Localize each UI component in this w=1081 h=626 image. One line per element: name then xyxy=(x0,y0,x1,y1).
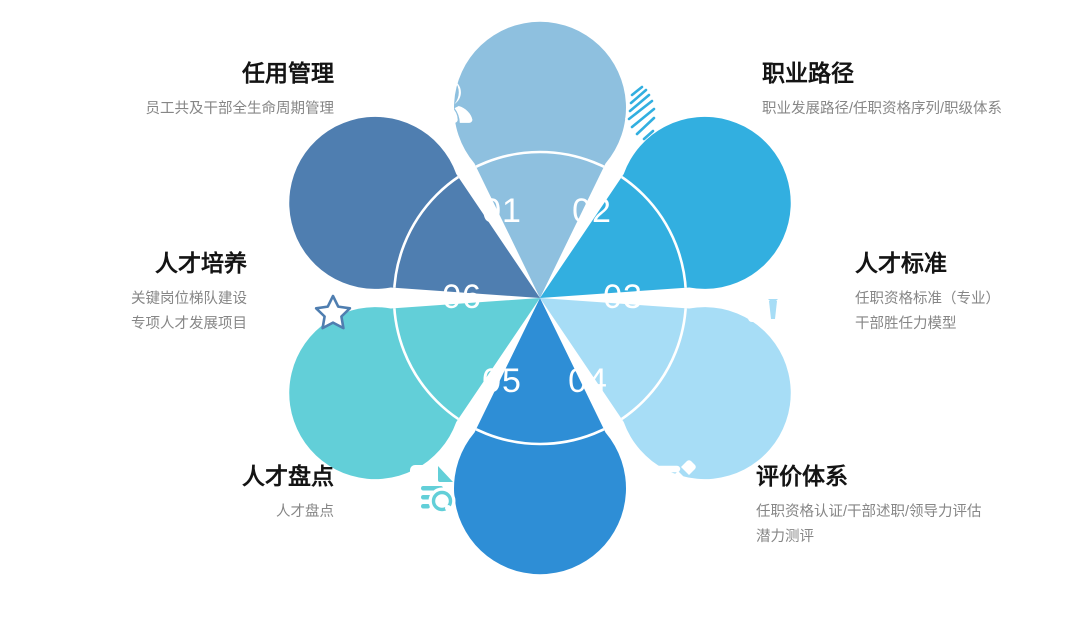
petal-label-06: 人才培养 关键岗位梯队建设 专项人才发展项目 xyxy=(40,248,247,337)
petal-title-03: 人才标准 xyxy=(855,248,1075,278)
petal-title-05: 人才盘点 xyxy=(110,461,334,491)
edit-square-icon xyxy=(640,460,696,514)
petal-sub-04-line1: 任职资格认证/干部述职/领导力评估 xyxy=(756,500,1076,525)
petal-title-04: 评价体系 xyxy=(756,461,1076,491)
petal-sub-05-line1: 人才盘点 xyxy=(110,500,334,525)
business-person-icon xyxy=(748,268,798,322)
petal-sub-06-line1: 关键岗位梯队建设 xyxy=(40,287,247,312)
petal-label-01: 任用管理 员工共及干部全生命周期管理 xyxy=(40,58,334,122)
petal-sub-02-line1: 职业发展路径/任职资格序列/职级体系 xyxy=(762,97,1072,122)
petal-sub-01-line1: 员工共及干部全生命周期管理 xyxy=(40,97,334,122)
petal-label-05: 人才盘点 人才盘点 xyxy=(110,461,334,525)
document-search-icon xyxy=(410,465,456,522)
petal-number-04: 04 xyxy=(568,362,608,400)
petal-sub-06-line2: 专项人才发展项目 xyxy=(40,312,247,337)
petal-group xyxy=(258,22,822,574)
necktie-icon xyxy=(625,73,655,141)
petal-label-02: 职业路径 职业发展路径/任职资格序列/职级体系 xyxy=(762,58,1072,122)
petal-sub-03-line2: 干部胜任力模型 xyxy=(855,312,1075,337)
petal-title-02: 职业路径 xyxy=(762,58,1072,88)
infographic-canvas: 01 02 03 04 05 06 任用管理 员工共及干部全生命周期管理 职业路… xyxy=(0,0,1081,626)
petal-sub-04-line2: 潜力测评 xyxy=(756,525,1076,550)
petal-label-03: 人才标准 任职资格标准（专业） 干部胜任力模型 xyxy=(855,248,1075,337)
petal-title-01: 任用管理 xyxy=(40,58,334,88)
petal-title-06: 人才培养 xyxy=(40,248,247,278)
petal-number-03: 03 xyxy=(603,278,643,316)
petal-label-04: 评价体系 任职资格认证/干部述职/领导力评估 潜力测评 xyxy=(756,461,1076,550)
petal-number-01: 01 xyxy=(482,192,522,230)
petal-number-06: 06 xyxy=(442,278,482,316)
petal-sub-03-line1: 任职资格标准（专业） xyxy=(855,287,1075,312)
petal-number-02: 02 xyxy=(572,192,612,230)
petal-number-05: 05 xyxy=(482,362,522,400)
